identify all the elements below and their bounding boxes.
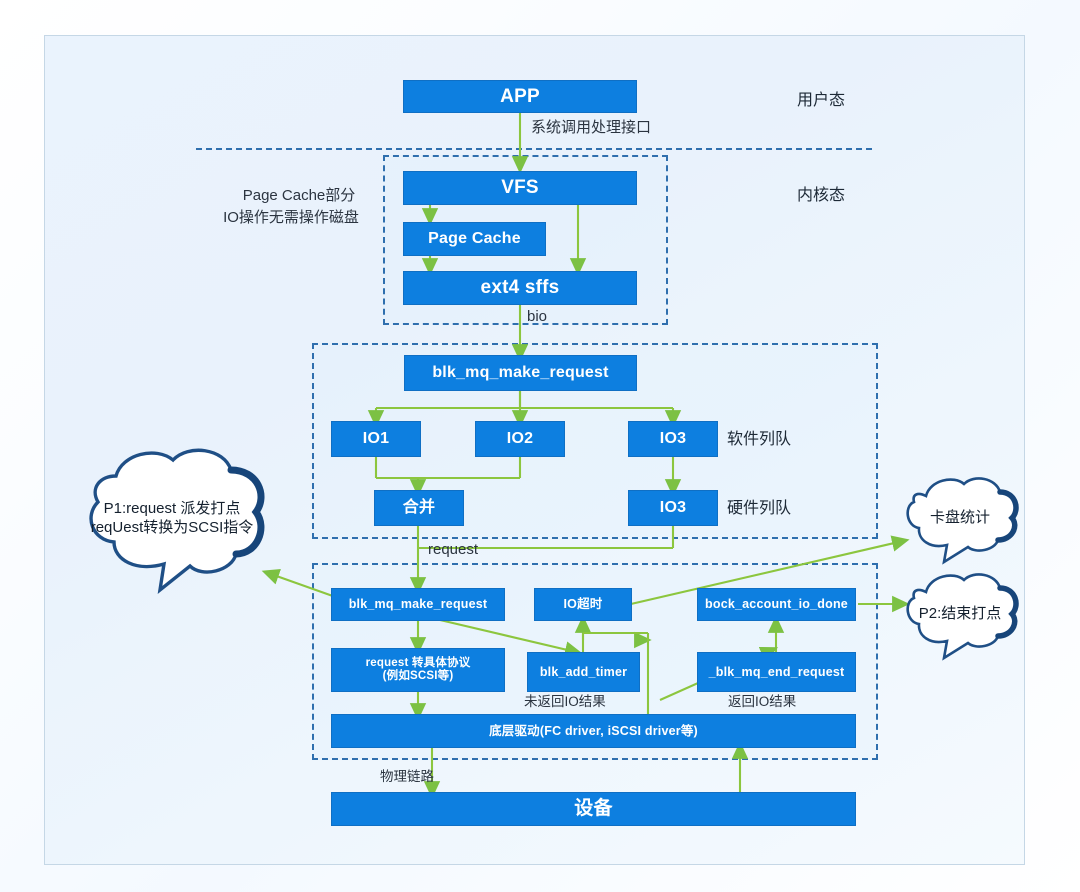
box-low-level-driver[interactable]: 底层驱动(FC driver, iSCSI driver等) [331,714,856,748]
box-bock-account-io-done[interactable]: bock_account_io_done [697,588,856,621]
label-io-returned: 返回IO结果 [728,693,796,711]
label-io-not-returned: 未返回IO结果 [524,693,606,711]
label-request: request [428,540,478,560]
callout-p2: P2:结束打点 [898,566,1022,662]
box-merge[interactable]: 合并 [374,490,464,526]
user-kernel-divider [196,148,872,150]
box-io1[interactable]: IO1 [331,421,421,457]
callout-disk-stats: 卡盘统计 [898,470,1022,566]
box-app[interactable]: APP [403,80,637,113]
box-request-to-protocol-line1: request 转具体协议 [366,657,471,670]
label-soft-queue: 软件列队 [727,429,791,451]
box-device[interactable]: 设备 [331,792,856,826]
callout-p1-line1: P1:request 派发打点 [104,499,241,519]
callout-p1: P1:request 派发打点 reqUest转换为SCSI指令 [52,438,292,598]
label-syscall: 系统调用处理接口 [531,118,651,138]
callout-p2-text: P2:结束打点 [898,566,1022,678]
box-page-cache[interactable]: Page Cache [403,222,546,256]
label-hard-queue: 硬件列队 [727,498,791,520]
box-blk-add-timer[interactable]: blk_add_timer [527,652,640,692]
label-bio: bio [527,307,547,327]
box-io-timeout[interactable]: IO超时 [534,588,632,621]
box-request-to-protocol-line2: (例如SCSI等) [383,670,454,683]
callout-p1-line2: reqUest转换为SCSI指令 [91,518,254,538]
box-io2[interactable]: IO2 [475,421,565,457]
box-blk-mq-make-request-low[interactable]: blk_mq_make_request [331,588,505,621]
box-blk-mq-end-request[interactable]: _blk_mq_end_request [697,652,856,692]
callout-p1-text: P1:request 派发打点 reqUest转换为SCSI指令 [52,438,292,624]
label-page-cache-note-line1: Page Cache部分 [214,186,384,206]
box-io3-soft[interactable]: IO3 [628,421,718,457]
label-user-mode: 用户态 [797,90,845,112]
box-blk-mq-make-request-top[interactable]: blk_mq_make_request [404,355,637,391]
diagram-canvas: APP VFS Page Cache ext4 sffs blk_mq_make… [0,0,1080,892]
box-request-to-protocol[interactable]: request 转具体协议 (例如SCSI等) [331,648,505,692]
box-vfs[interactable]: VFS [403,171,637,205]
label-physical-link: 物理链路 [380,768,434,786]
label-page-cache-note-line2: IO操作无需操作磁盘 [198,208,384,228]
box-ext4-sffs[interactable]: ext4 sffs [403,271,637,305]
label-kernel-mode: 内核态 [797,185,845,207]
box-io3-hard[interactable]: IO3 [628,490,718,526]
